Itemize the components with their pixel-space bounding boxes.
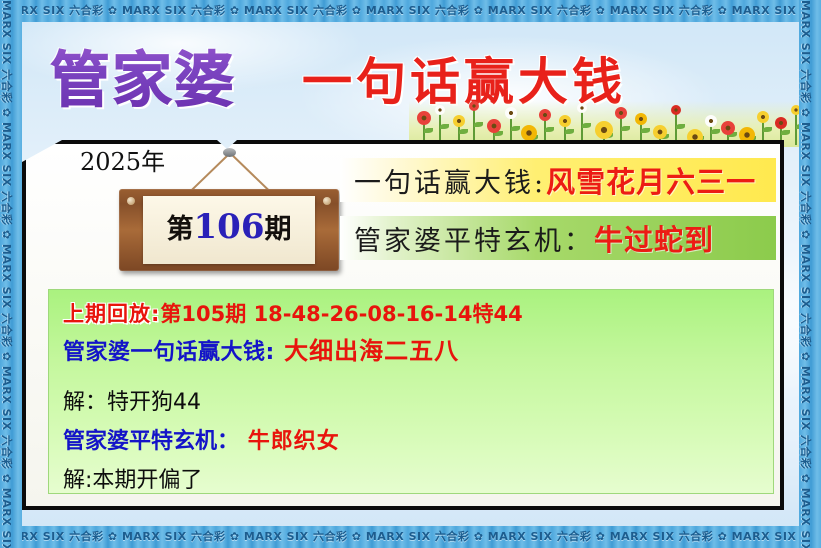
flower-head-icon	[539, 109, 551, 121]
border-left-text: MARX SIX 六合彩 ✿ MARX SIX 六合彩 ✿ MARX SIX 六…	[0, 0, 17, 548]
paper-label: 第106期	[143, 196, 315, 264]
nail-icon	[223, 148, 236, 157]
flower-head-icon	[505, 107, 517, 119]
review-line-3: 管家婆平特玄机： 牛郎织女	[63, 429, 773, 455]
flower-head-icon	[671, 105, 681, 115]
flower-head-icon	[721, 121, 735, 135]
review-box: 上期回放:第105期 18-48-26-08-16-14特44 管家婆一句话赢大…	[48, 289, 774, 494]
rope-right-icon	[229, 152, 272, 193]
review-numbers: 18-48-26-08-16-14特44	[254, 302, 523, 326]
wooden-board: 第106期	[119, 189, 339, 271]
flower-leaf-icon	[621, 126, 630, 131]
band-pingte-label: 管家婆平特玄机：	[340, 219, 594, 258]
flower-head-icon	[521, 125, 537, 141]
rope-left-icon	[188, 152, 231, 193]
review-line-1: 管家婆一句话赢大钱: 大细出海二五八	[63, 337, 773, 366]
page-root: MARX SIX 六合彩 ✿ MARX SIX 六合彩 ✿ MARX SIX 六…	[0, 0, 821, 548]
flower-head-icon	[417, 111, 431, 125]
review-line-3-key: 管家婆平特玄机：	[63, 429, 239, 454]
border-right: MARX SIX 六合彩 ✿ MARX SIX 六合彩 ✿ MARX SIX 六…	[799, 0, 821, 548]
review-title: 上期回放:	[63, 302, 160, 326]
flower-leaf-icon	[511, 126, 520, 131]
flower-icon	[577, 103, 587, 145]
flower-head-icon	[453, 115, 465, 127]
flower-icon	[469, 101, 479, 145]
border-left: MARX SIX 六合彩 ✿ MARX SIX 六合彩 ✿ MARX SIX 六…	[0, 0, 22, 548]
review-line-2: 解：特开狗44	[63, 390, 773, 416]
flower-head-icon	[615, 107, 627, 119]
flower-icon	[671, 105, 681, 145]
flower-head-icon	[435, 105, 445, 115]
band-yijuhua-value: 风雪花月六三一	[546, 159, 756, 201]
flower-head-icon	[469, 101, 479, 111]
flower-meadow-icon	[409, 85, 799, 147]
flower-head-icon	[757, 111, 769, 123]
band-yijuhua-label: 一句话赢大钱:	[340, 161, 546, 200]
review-title-row: 上期回放:第105期 18-48-26-08-16-14特44	[63, 302, 773, 327]
header-banner: 管家婆 一句话赢大钱	[22, 22, 799, 147]
review-issue: 第105期	[160, 302, 246, 326]
brand-title: 管家婆	[50, 32, 236, 119]
border-top-text: MARX SIX 六合彩 ✿ MARX SIX 六合彩 ✿ MARX SIX 六…	[0, 0, 821, 22]
flower-icon	[791, 105, 799, 145]
issue-suffix: 期	[264, 214, 291, 245]
flower-head-icon	[559, 115, 571, 127]
flower-head-icon	[595, 121, 613, 139]
review-line-4: 解:本期开偏了	[63, 468, 773, 494]
hanging-sign: 第106期	[97, 148, 337, 288]
border-bottom-text: MARX SIX 六合彩 ✿ MARX SIX 六合彩 ✿ MARX SIX 六…	[0, 526, 821, 548]
flower-leaf-icon	[545, 127, 554, 132]
flower-leaf-icon	[424, 128, 433, 133]
issue-prefix: 第	[167, 214, 194, 245]
band-pingte-value: 牛过蛇到	[594, 217, 714, 259]
flower-head-icon	[791, 105, 799, 115]
flower-head-icon	[705, 115, 717, 127]
flower-head-icon	[653, 125, 667, 139]
flower-head-icon	[635, 113, 647, 125]
flower-icon	[435, 105, 445, 145]
flower-leaf-icon	[796, 124, 799, 129]
main-panel: 2025年 第106期 一句话赢大钱:风雪花月六三一	[22, 140, 784, 510]
border-bottom: MARX SIX 六合彩 ✿ MARX SIX 六合彩 ✿ MARX SIX 六…	[0, 526, 821, 548]
review-line-1-value: 大细出海二五八	[284, 337, 459, 365]
review-line-1-key: 管家婆一句话赢大钱:	[63, 340, 275, 365]
flower-head-icon	[487, 119, 501, 133]
flower-head-icon	[775, 117, 787, 129]
border-right-text: MARX SIX 六合彩 ✿ MARX SIX 六合彩 ✿ MARX SIX 六…	[799, 0, 816, 548]
review-line-3-value: 牛郎织女	[248, 429, 340, 454]
band-yijuhua: 一句话赢大钱:风雪花月六三一	[340, 158, 776, 202]
issue-number: 106	[194, 207, 265, 247]
band-pingte-xuanji: 管家婆平特玄机：牛过蛇到	[340, 216, 776, 260]
flower-head-icon	[577, 103, 587, 113]
border-top: MARX SIX 六合彩 ✿ MARX SIX 六合彩 ✿ MARX SIX 六…	[0, 0, 821, 22]
